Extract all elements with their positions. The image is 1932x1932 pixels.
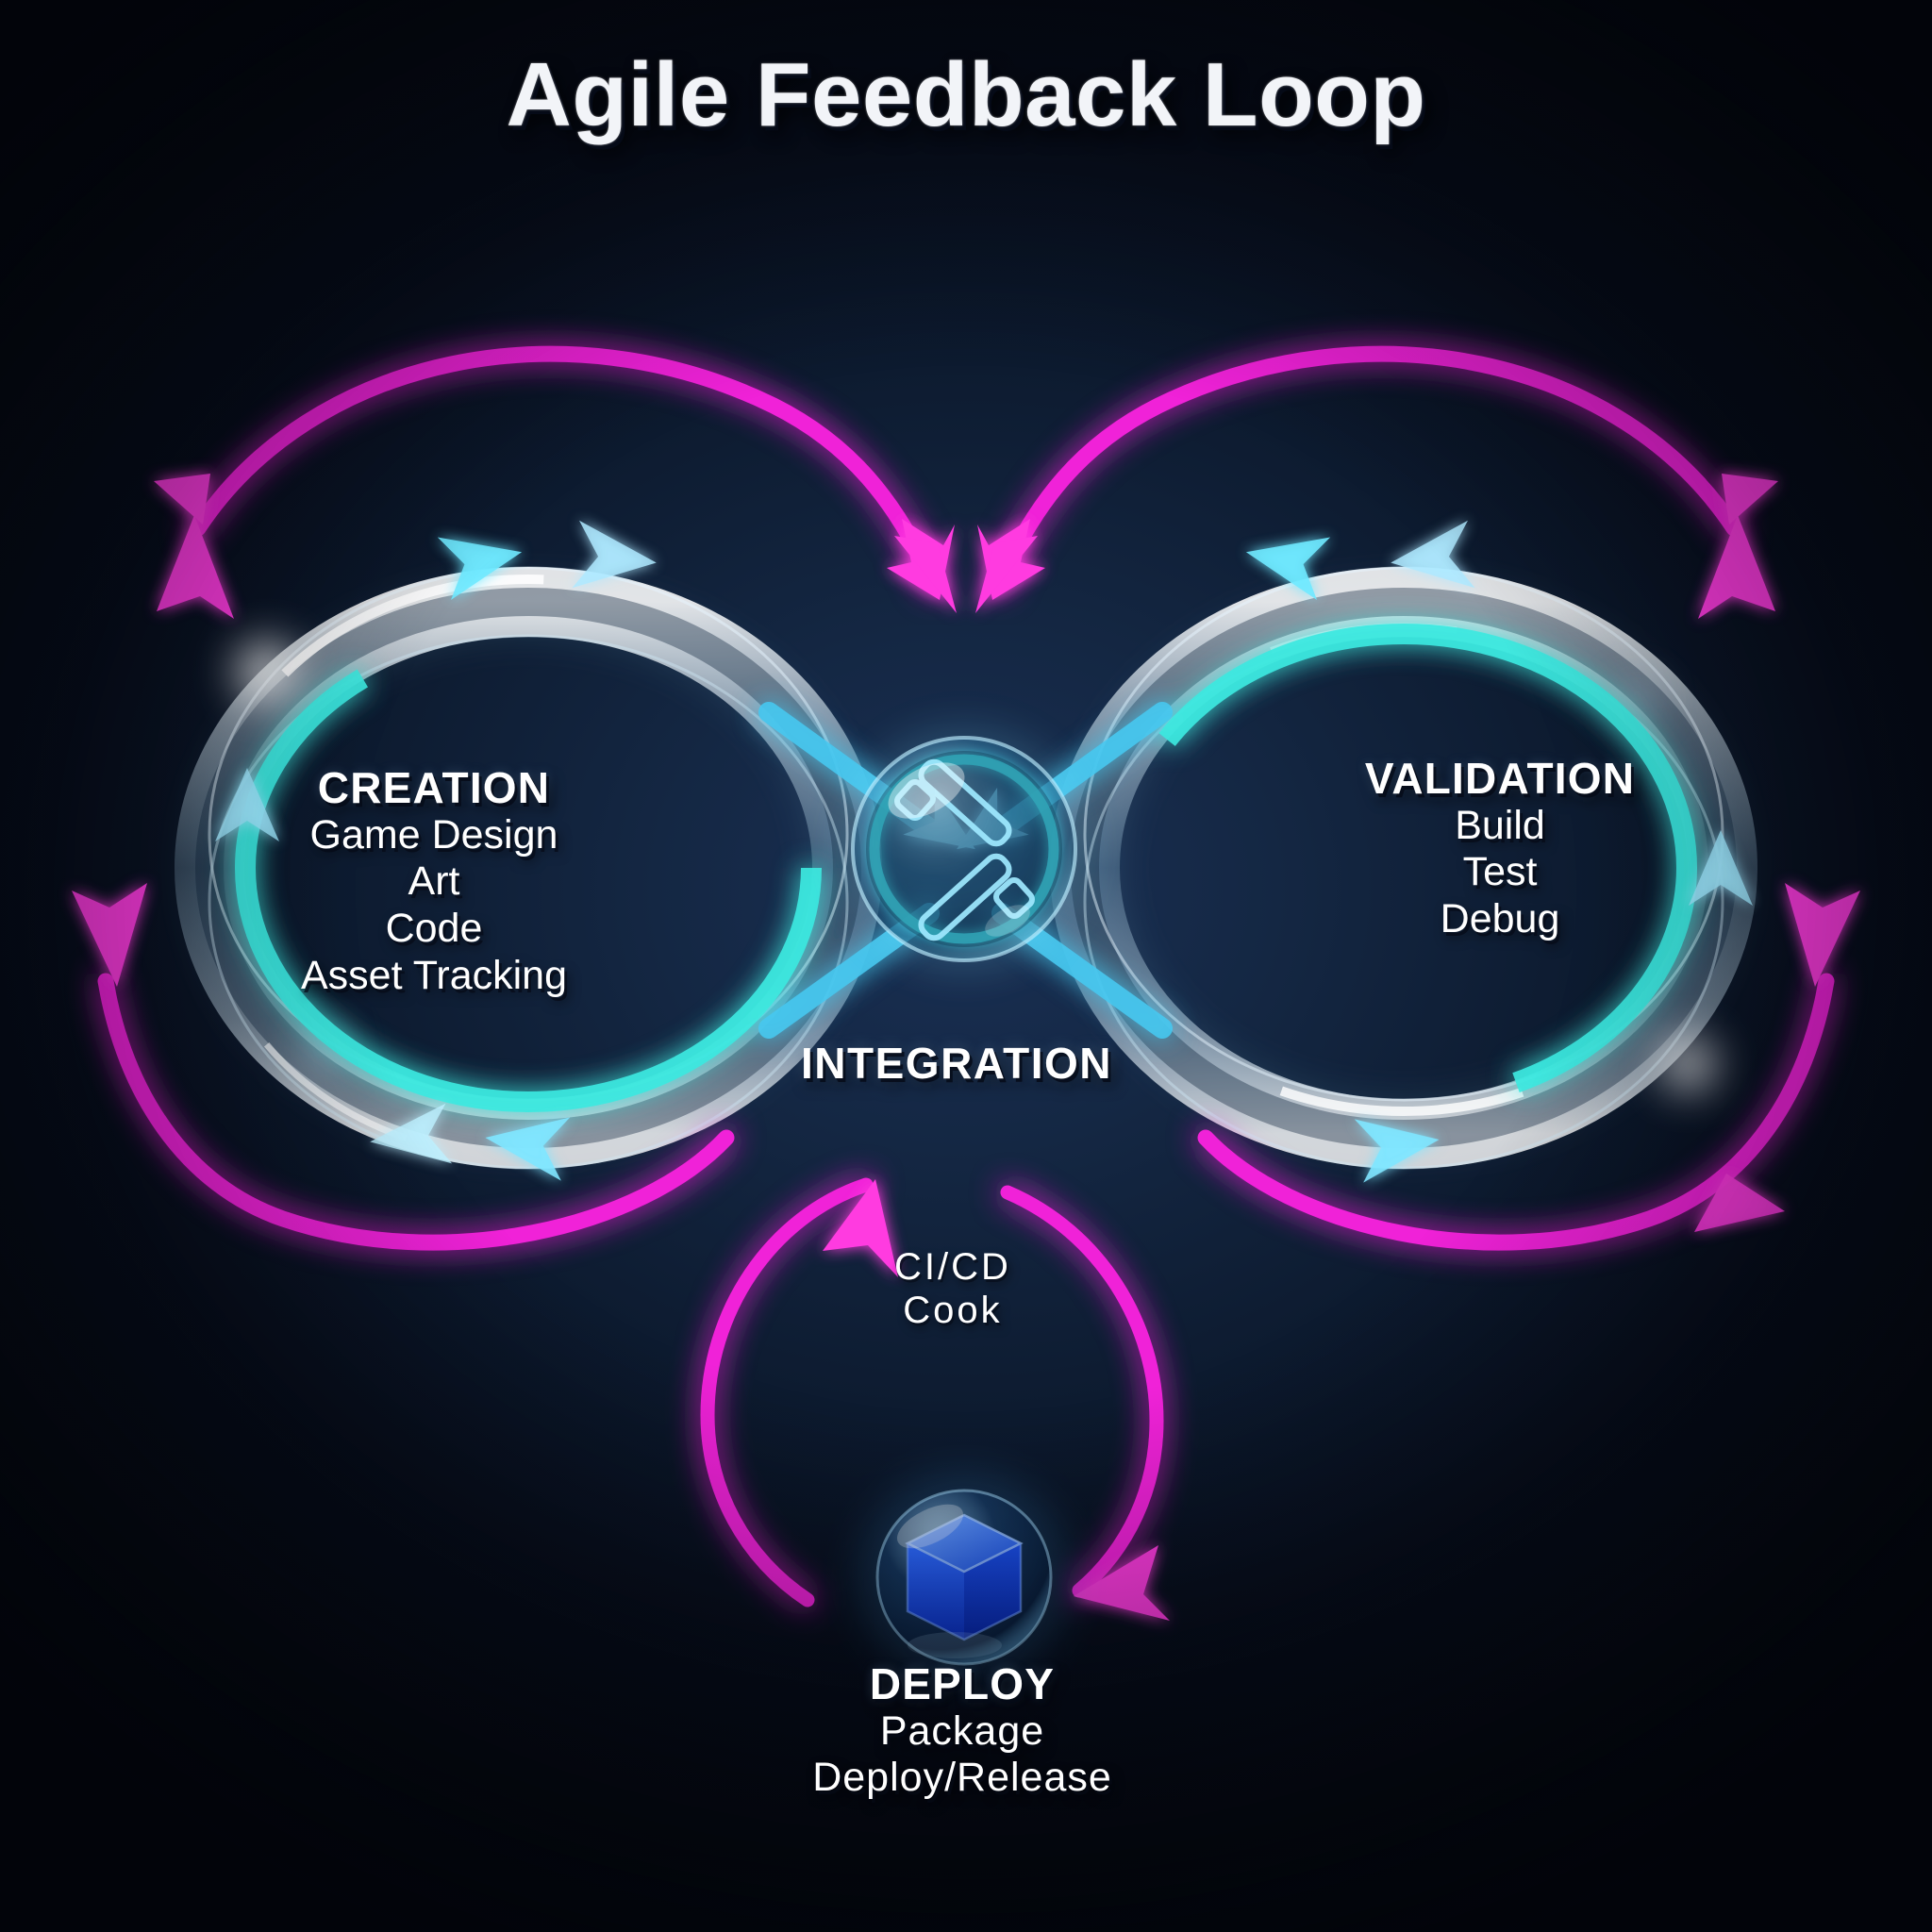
creation-item-3: Asset Tracking xyxy=(170,953,698,1000)
phase-block-integration-items: CI/CD Cook xyxy=(745,1245,1160,1333)
diagram-canvas: Agile Feedback Loop CREATION Game Design… xyxy=(0,0,1932,1932)
creation-item-0: Game Design xyxy=(170,812,698,859)
phase-title-integration: INTEGRATION xyxy=(655,1038,1258,1089)
deploy-item-1: Deploy/Release xyxy=(660,1755,1264,1802)
validation-item-2: Debug xyxy=(1236,896,1764,943)
validation-item-0: Build xyxy=(1236,803,1764,850)
phase-title-creation: CREATION xyxy=(170,764,698,812)
phase-block-creation: CREATION Game Design Art Code Asset Trac… xyxy=(170,764,698,1000)
phase-title-validation: VALIDATION xyxy=(1236,755,1764,803)
validation-item-1: Test xyxy=(1236,849,1764,896)
creation-item-2: Code xyxy=(170,906,698,953)
page-title: Agile Feedback Loop xyxy=(0,43,1932,147)
deploy-orb xyxy=(860,1474,1068,1681)
deploy-item-0: Package xyxy=(660,1708,1264,1756)
creation-item-1: Art xyxy=(170,858,698,906)
phase-block-validation: VALIDATION Build Test Debug xyxy=(1236,755,1764,943)
integration-hub-orb xyxy=(843,728,1085,970)
phase-title-deploy: DEPLOY xyxy=(660,1660,1264,1708)
phase-block-deploy: DEPLOY Package Deploy/Release xyxy=(660,1660,1264,1802)
integration-item-1: Cook xyxy=(745,1289,1160,1332)
integration-item-0: CI/CD xyxy=(745,1245,1160,1289)
